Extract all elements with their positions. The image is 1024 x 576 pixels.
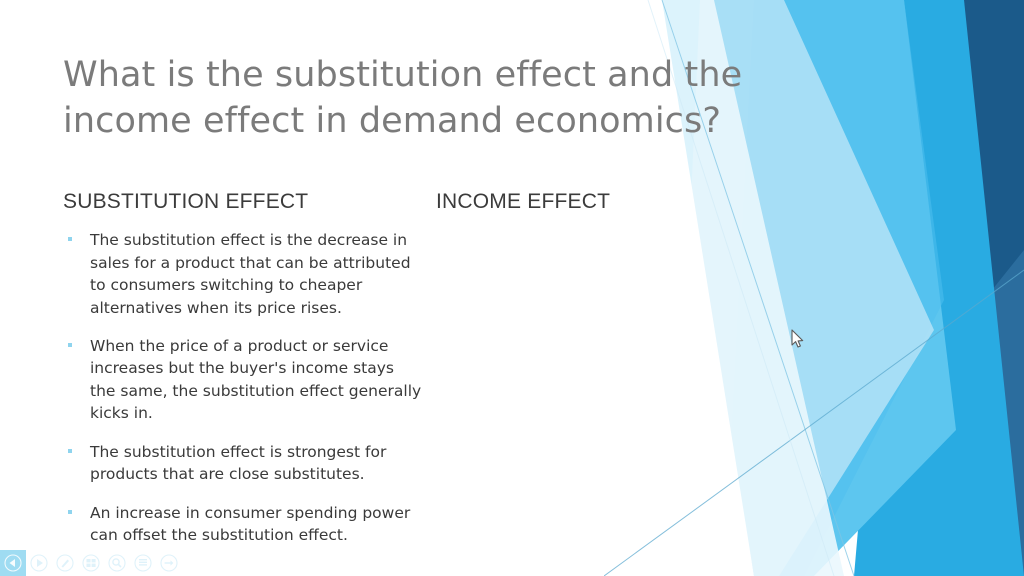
bullet-text: An increase in consumer spending power c…	[90, 504, 410, 544]
bullet-marker-icon	[68, 237, 72, 241]
presentation-slide: What is the substitution effect and the …	[0, 0, 1024, 576]
list-item: The substitution effect is strongest for…	[63, 441, 423, 486]
mouse-cursor	[791, 329, 805, 349]
pen-icon[interactable]	[52, 550, 78, 576]
column-heading: SUBSTITUTION EFFECT	[63, 190, 423, 213]
forward-arrow-icon[interactable]	[156, 550, 182, 576]
list-item: The substitution effect is the decrease …	[63, 229, 423, 319]
bullet-text: The substitution effect is strongest for…	[90, 443, 386, 483]
menu-list-icon[interactable]	[130, 550, 156, 576]
slides-grid-icon[interactable]	[78, 550, 104, 576]
column-heading: INCOME EFFECT	[436, 190, 756, 213]
bullet-marker-icon	[68, 449, 72, 453]
bullet-text: The substitution effect is the decrease …	[90, 231, 411, 316]
column-substitution-effect: SUBSTITUTION EFFECT The substitution eff…	[63, 190, 423, 547]
slideshow-toolbar[interactable]	[0, 550, 182, 576]
list-item: An increase in consumer spending power c…	[63, 502, 423, 547]
bullet-list: The substitution effect is the decrease …	[63, 229, 423, 547]
column-income-effect: INCOME EFFECT	[436, 190, 756, 229]
bullet-text: When the price of a product or service i…	[90, 337, 421, 422]
slide-title: What is the substitution effect and the …	[63, 52, 763, 144]
slide-body: SUBSTITUTION EFFECT The substitution eff…	[0, 190, 760, 570]
list-item: When the price of a product or service i…	[63, 335, 423, 425]
magnifier-icon[interactable]	[104, 550, 130, 576]
bullet-marker-icon	[68, 343, 72, 347]
play-icon[interactable]	[26, 550, 52, 576]
back-arrow-icon[interactable]	[0, 550, 26, 576]
bullet-marker-icon	[68, 510, 72, 514]
